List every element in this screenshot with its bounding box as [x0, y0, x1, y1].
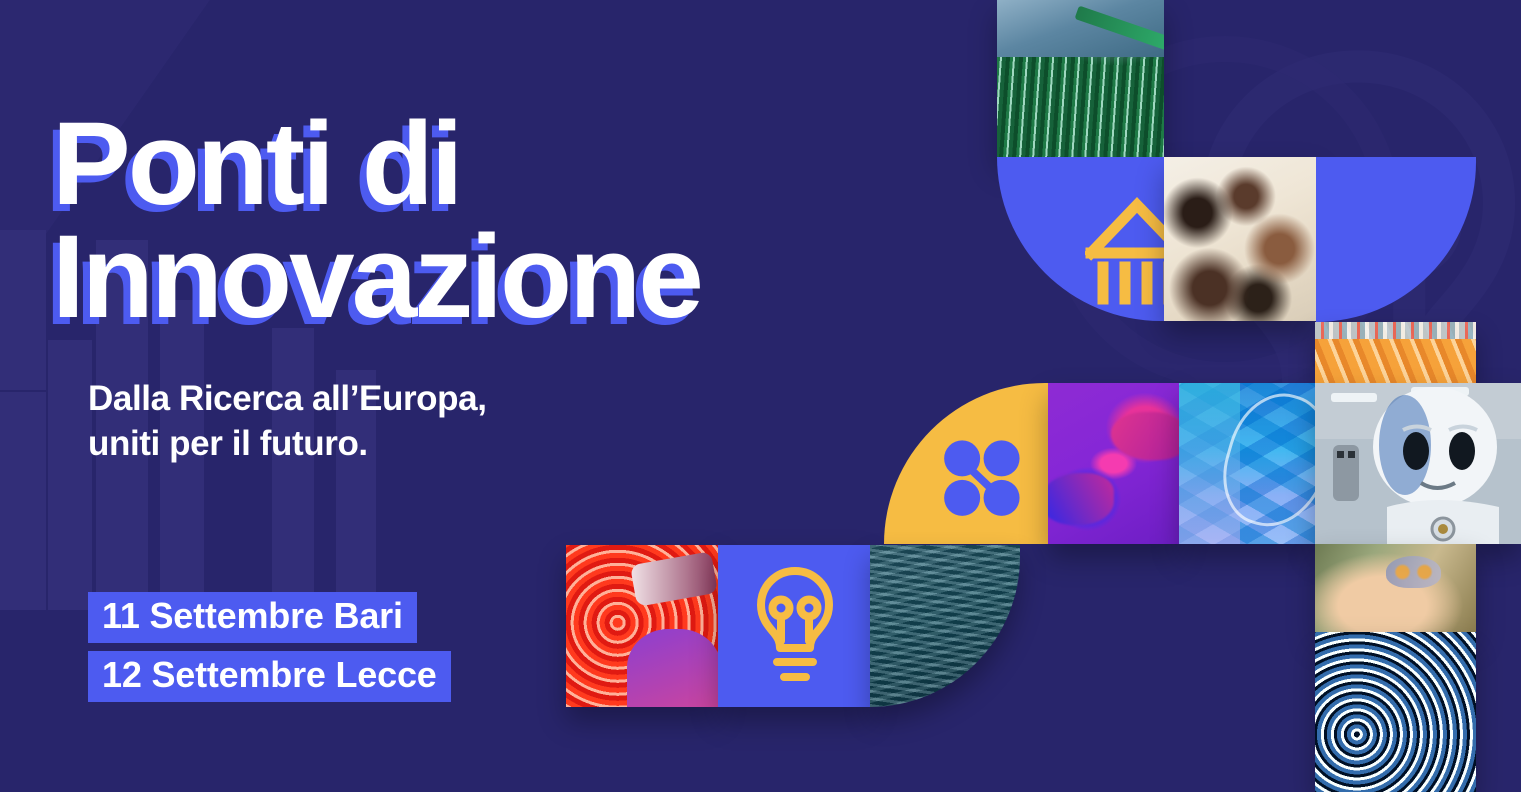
four-circles-network-logo [938, 437, 1024, 521]
background-bar-6 [272, 328, 314, 610]
background-bar-2 [0, 392, 46, 610]
date-badge-lecce[interactable]: 12 Settembre Lecce [88, 651, 451, 702]
page-title: Ponti di Innovazione [52, 108, 952, 335]
photo-robot [1315, 383, 1521, 544]
photo-fractal [1315, 632, 1476, 792]
date-badge-bari[interactable]: 11 Settembre Bari [88, 592, 417, 643]
photo-hands-neon [1048, 383, 1179, 544]
photo-people-circle [1164, 157, 1316, 321]
photo-water [870, 545, 1020, 707]
event-dates-list: 11 Settembre Bari 12 Settembre Lecce [88, 592, 451, 710]
page-subtitle: Dalla Ricerca all’Europa, uniti per il f… [88, 377, 708, 467]
photo-hand-butterfly [1315, 544, 1476, 632]
photo-origami [1315, 322, 1476, 383]
photo-test-tubes [997, 0, 1164, 157]
banner-canvas: Ponti di Innovazione Dalla Ricerca all’E… [0, 0, 1521, 792]
photo-blue-cubes [1179, 383, 1315, 544]
lightbulb-icon [752, 565, 838, 687]
background-bar-3 [48, 340, 92, 610]
photo-vr-headset [566, 545, 718, 707]
